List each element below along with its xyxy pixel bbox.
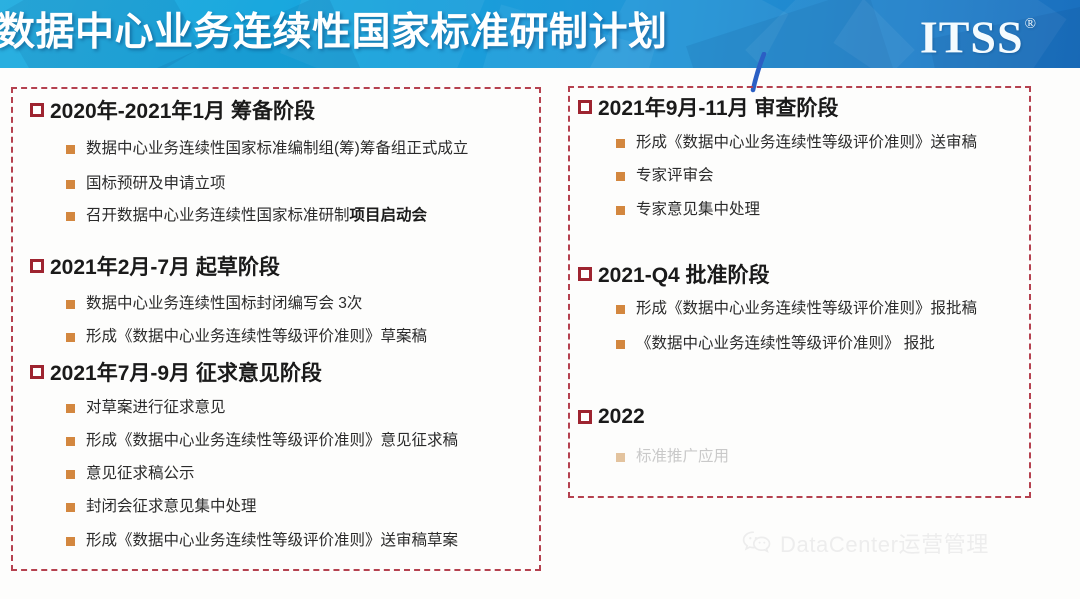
square-bullet-icon bbox=[66, 180, 75, 189]
list-item: 形成《数据中心业务连续性等级评价准则》意见征求稿 bbox=[66, 431, 458, 451]
phase-heading-review: 2021年9月-11月 审查阶段 bbox=[578, 92, 838, 122]
list-item-label: 数据中心业务连续性国标封闭编写会 3次 bbox=[86, 294, 362, 314]
list-item-label: 国标预研及申请立项 bbox=[86, 174, 226, 194]
watermark-label: DataCenter运营管理 bbox=[780, 527, 989, 559]
list-item-label: 标准推广应用 bbox=[636, 447, 729, 467]
phase-heading-approval: 2021-Q4 批准阶段 bbox=[578, 259, 770, 289]
square-bullet-icon bbox=[66, 212, 75, 221]
list-item: 国标预研及申请立项 bbox=[66, 174, 226, 194]
list-item: 形成《数据中心业务连续性等级评价准则》送审稿 bbox=[616, 133, 977, 153]
list-item: 数据中心业务连续性国家标准编制组(筹)筹备组正式成立 bbox=[66, 139, 468, 159]
square-bullet-icon bbox=[66, 503, 75, 512]
square-bullet-icon bbox=[66, 333, 75, 342]
phase-heading-promotion: 2022 bbox=[578, 405, 645, 429]
list-item: 专家评审会 bbox=[616, 166, 714, 186]
phase-heading-preparation: 2020年-2021年1月 筹备阶段 bbox=[30, 95, 315, 125]
list-item-label: 形成《数据中心业务连续性等级评价准则》意见征求稿 bbox=[86, 431, 458, 451]
square-bullet-icon bbox=[616, 172, 625, 181]
square-bullet-icon bbox=[66, 470, 75, 479]
list-item: 意见征求稿公示 bbox=[66, 464, 195, 484]
page-title: 数据中心业务连续性国家标准研制计划 bbox=[0, 7, 668, 59]
phase-heading-comment-solicitation: 2021年7月-9月 征求意见阶段 bbox=[30, 357, 322, 387]
list-item: 标准推广应用 bbox=[616, 447, 729, 467]
list-item-label: 召开数据中心业务连续性国家标准研制项目启动会 bbox=[86, 206, 427, 226]
wechat-icon bbox=[742, 530, 772, 556]
phase-heading-drafting: 2021年2月-7月 起草阶段 bbox=[30, 251, 280, 281]
square-bullet-icon bbox=[616, 206, 625, 215]
list-item-label: 专家评审会 bbox=[636, 166, 714, 186]
list-item-label: 对草案进行征求意见 bbox=[86, 398, 226, 418]
list-item-label: 形成《数据中心业务连续性等级评价准则》送审稿草案 bbox=[86, 531, 458, 551]
square-bullet-icon bbox=[616, 305, 625, 314]
phase-heading-label: 2021-Q4 批准阶段 bbox=[598, 259, 770, 289]
header-banner: 数据中心业务连续性国家标准研制计划 ITSS® bbox=[0, 0, 1080, 68]
list-item-label: 封闭会征求意见集中处理 bbox=[86, 497, 257, 517]
list-item-label: 形成《数据中心业务连续性等级评价准则》草案稿 bbox=[86, 327, 427, 347]
list-item-label: 专家意见集中处理 bbox=[636, 200, 760, 220]
square-bullet-icon bbox=[66, 437, 75, 446]
hollow-square-bullet-icon bbox=[578, 410, 592, 424]
square-bullet-icon bbox=[66, 404, 75, 413]
list-item: 《数据中心业务连续性等级评价准则》 报批 bbox=[616, 334, 935, 354]
list-item-label: 数据中心业务连续性国家标准编制组(筹)筹备组正式成立 bbox=[86, 139, 468, 159]
list-item: 数据中心业务连续性国标封闭编写会 3次 bbox=[66, 294, 362, 314]
registered-trademark-icon: ® bbox=[1025, 16, 1037, 32]
phase-heading-label: 2022 bbox=[598, 405, 645, 429]
list-item-label: 形成《数据中心业务连续性等级评价准则》报批稿 bbox=[636, 299, 977, 319]
slide-canvas: 数据中心业务连续性国家标准研制计划 ITSS® 2020年-2021年1月 筹备… bbox=[0, 0, 1080, 599]
square-bullet-icon bbox=[66, 300, 75, 309]
list-item-text-emphasis: 项目启动会 bbox=[350, 207, 428, 224]
itss-logo-text: ITSS bbox=[920, 11, 1024, 62]
square-bullet-icon bbox=[66, 145, 75, 154]
hollow-square-bullet-icon bbox=[30, 103, 44, 117]
list-item-label: 《数据中心业务连续性等级评价准则》 报批 bbox=[636, 334, 935, 354]
itss-logo: ITSS® bbox=[920, 4, 1036, 65]
hollow-square-bullet-icon bbox=[30, 259, 44, 273]
list-item: 形成《数据中心业务连续性等级评价准则》草案稿 bbox=[66, 327, 427, 347]
watermark: DataCenter运营管理 bbox=[742, 527, 989, 559]
list-item: 形成《数据中心业务连续性等级评价准则》送审稿草案 bbox=[66, 531, 458, 551]
hollow-square-bullet-icon bbox=[578, 100, 592, 114]
phase-heading-label: 2021年9月-11月 审查阶段 bbox=[598, 92, 838, 122]
list-item: 召开数据中心业务连续性国家标准研制项目启动会 bbox=[66, 206, 427, 226]
list-item: 形成《数据中心业务连续性等级评价准则》报批稿 bbox=[616, 299, 977, 319]
list-item-label: 形成《数据中心业务连续性等级评价准则》送审稿 bbox=[636, 133, 977, 153]
phase-heading-label: 2021年7月-9月 征求意见阶段 bbox=[50, 357, 322, 387]
phase-heading-label: 2021年2月-7月 起草阶段 bbox=[50, 251, 280, 281]
list-item: 专家意见集中处理 bbox=[616, 200, 760, 220]
list-item-text-plain: 召开数据中心业务连续性国家标准研制 bbox=[86, 207, 350, 224]
square-bullet-icon bbox=[616, 453, 625, 462]
list-item-label: 意见征求稿公示 bbox=[86, 464, 195, 484]
hollow-square-bullet-icon bbox=[30, 365, 44, 379]
square-bullet-icon bbox=[616, 340, 625, 349]
list-item: 对草案进行征求意见 bbox=[66, 398, 226, 418]
square-bullet-icon bbox=[616, 139, 625, 148]
hollow-square-bullet-icon bbox=[578, 267, 592, 281]
list-item: 封闭会征求意见集中处理 bbox=[66, 497, 257, 517]
square-bullet-icon bbox=[66, 537, 75, 546]
phase-heading-label: 2020年-2021年1月 筹备阶段 bbox=[50, 95, 315, 125]
